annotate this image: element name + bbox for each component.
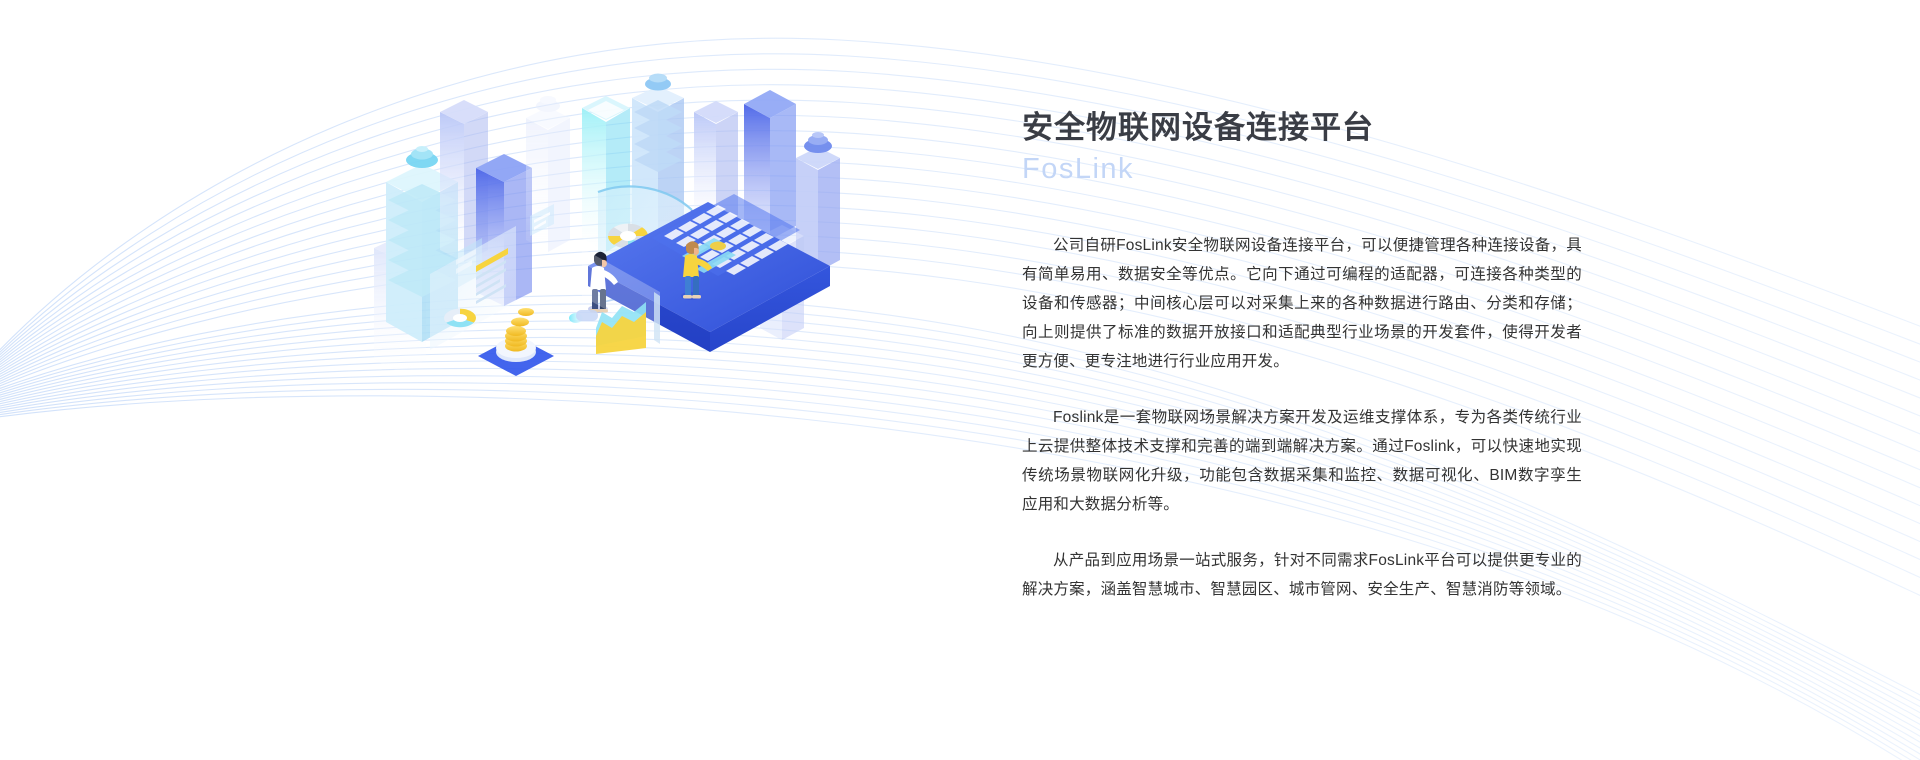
- description-body: 公司自研FosLink安全物联网设备连接平台，可以便捷管理各种连接设备，具有简单…: [1022, 231, 1582, 604]
- glow-connector: [569, 310, 598, 323]
- page-root: 安全物联网设备连接平台 FosLink 公司自研FosLink安全物联网设备连接…: [0, 0, 1920, 760]
- pie-chart-widget: [444, 309, 476, 328]
- description-paragraph: 公司自研FosLink安全物联网设备连接平台，可以便捷管理各种连接设备，具有简单…: [1022, 231, 1582, 376]
- description-paragraph: Foslink是一套物联网场景解决方案开发及运维支撑体系，专为各类传统行业上云提…: [1022, 403, 1582, 519]
- page-title: 安全物联网设备连接平台: [1022, 108, 1582, 148]
- content-column: 安全物联网设备连接平台 FosLink 公司自研FosLink安全物联网设备连接…: [1022, 108, 1582, 604]
- description-paragraph: 从产品到应用场景一站式服务，针对不同需求FosLink平台可以提供更专业的解决方…: [1022, 546, 1582, 604]
- coin-stack-pedestal: [478, 308, 554, 376]
- background-wave-lines: [0, 0, 1920, 760]
- hero-illustration: [330, 60, 850, 370]
- page-subtitle: FosLink: [1022, 150, 1582, 189]
